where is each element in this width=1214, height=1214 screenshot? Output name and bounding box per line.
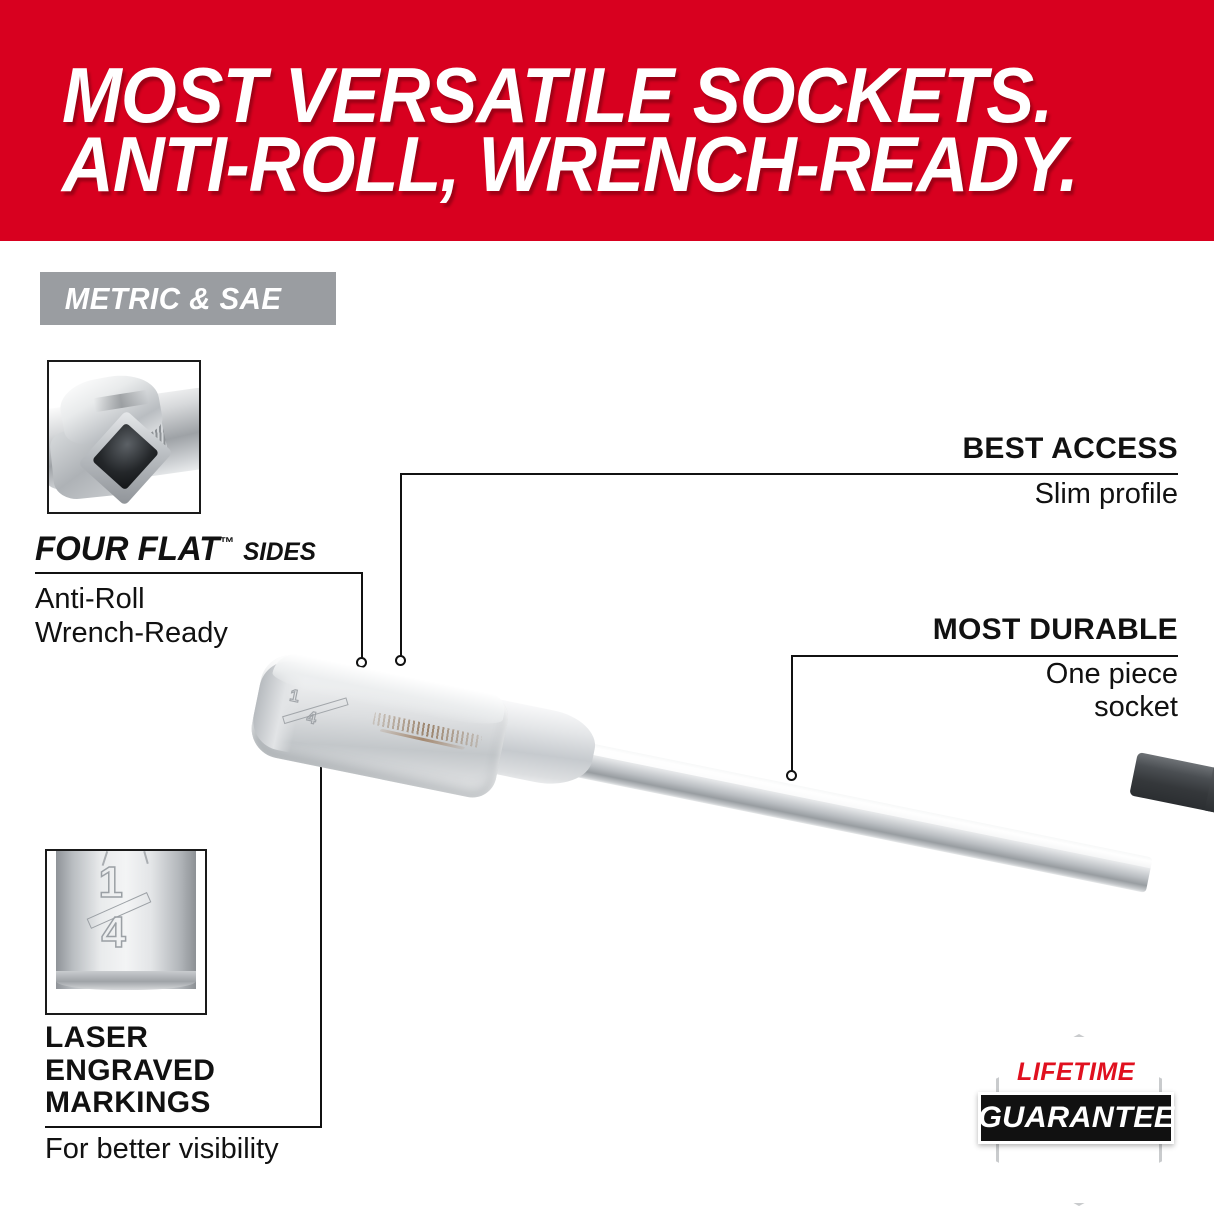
product-size-numerator: 1 xyxy=(288,685,301,706)
laser-engraved-subtitle: For better visibility xyxy=(45,1133,465,1166)
four-flat-title-main: FOUR FLAT xyxy=(35,530,219,568)
engraved-marking-inset-photo: 1 4 xyxy=(45,849,207,1015)
callout-best-access: BEST ACCESS Slim profile xyxy=(700,432,1178,511)
metric-sae-label: METRIC & SAE xyxy=(40,281,281,317)
header-banner: MOST VERSATILE SOCKETS. ANTI-ROLL, WRENC… xyxy=(0,0,1214,241)
engraved-fraction: 1 4 xyxy=(94,866,164,970)
product-image-extension-bar: 1 4 xyxy=(255,632,1155,882)
best-access-subtitle: Slim profile xyxy=(700,478,1178,511)
callout-laser-engraved: LASER ENGRAVED MARKINGS For better visib… xyxy=(45,1022,465,1166)
best-access-rule xyxy=(400,473,1178,475)
wrench-inset-photo xyxy=(47,360,201,514)
four-flat-title: FOUR FLAT™ SIDES xyxy=(35,530,452,569)
product-shaft xyxy=(548,736,1153,893)
guarantee-lifetime-label: LIFETIME xyxy=(978,1058,1174,1087)
engraved-denominator: 4 xyxy=(101,911,125,955)
four-flat-rule xyxy=(35,572,363,574)
headline-line-2: ANTI-ROLL, WRENCH-READY. xyxy=(62,125,1078,203)
product-drive-tip xyxy=(1129,752,1214,816)
guarantee-label: GUARANTEE xyxy=(978,1101,1175,1135)
best-access-title: BEST ACCESS xyxy=(700,432,1178,466)
laser-engraved-rule xyxy=(45,1126,322,1128)
wrench-photo-art xyxy=(49,362,199,512)
metric-sae-badge: METRIC & SAE xyxy=(40,272,336,325)
engraved-photo-art: 1 4 xyxy=(47,851,205,1013)
lifetime-guarantee-badge: LIFETIME GUARANTEE xyxy=(978,1034,1174,1200)
product-socket-head: 1 4 xyxy=(246,650,512,802)
trademark-symbol: ™ xyxy=(219,535,234,552)
four-flat-title-small: SIDES xyxy=(243,538,316,566)
guarantee-bar: GUARANTEE xyxy=(978,1092,1174,1144)
laser-engraved-title: LASER ENGRAVED MARKINGS xyxy=(45,1022,465,1120)
engraved-numerator: 1 xyxy=(99,861,123,905)
